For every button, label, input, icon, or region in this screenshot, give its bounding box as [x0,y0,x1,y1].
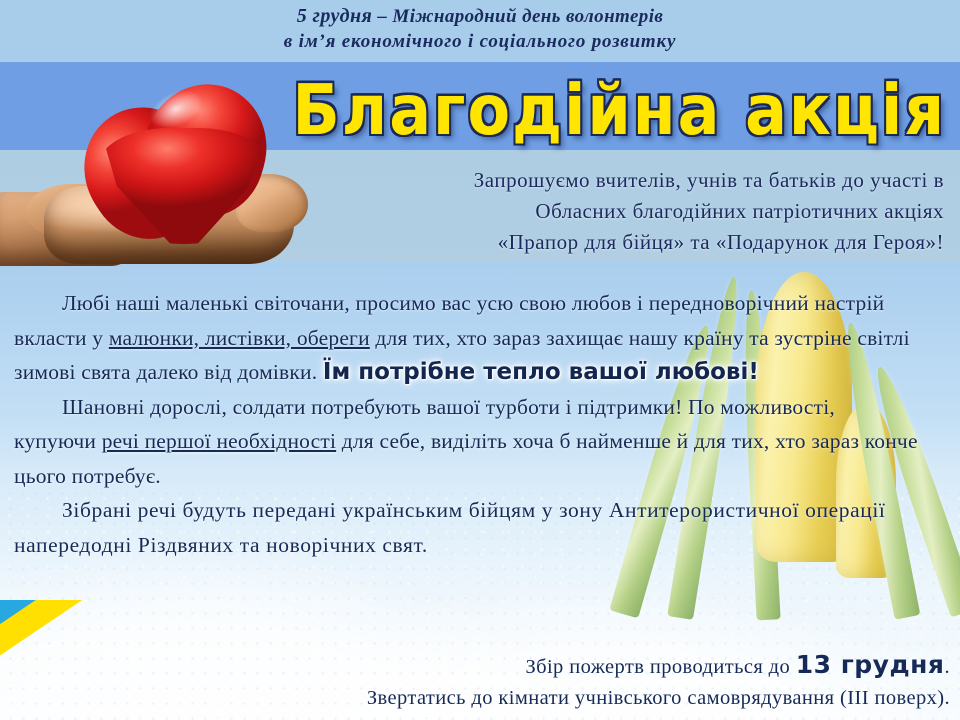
footer-info: Збір пожертв проводиться до 13 грудня. З… [170,649,950,714]
contact-location-line: Звертатись до кімнати учнівського самовр… [170,683,950,714]
page-title: Благодійна акція [0,70,960,151]
invitation-line-3: «Прапор для бійця» та «Подарунок для Гер… [304,227,944,258]
ribbon-yellow-stripe [0,600,140,698]
paragraph-adults: Шановні дорослі, солдати потребують вашо… [14,390,919,494]
event-header-dash: – [372,6,392,27]
paragraph-children: Любі наші маленькі світочани, просимо ва… [14,286,919,390]
event-date: 5 грудня [297,5,372,27]
deadline-date: 13 грудня [796,650,945,679]
charity-campaign-poster: 5 грудня – Міжнародний день волонтерів в… [0,0,960,720]
ukrainian-flag-ribbon-icon [0,600,140,720]
deadline-prefix: Збір пожертв проводиться до [525,656,795,678]
body-text: Любі наші маленькі світочани, просимо ва… [14,286,919,562]
slogan: Їм потрібне тепло вашої любові! [323,359,759,385]
event-header-line-2: в ім’я економічного і соціального розвит… [0,29,960,54]
invitation-line-1: Запрошуємо вчителів, учнів та батьків до… [304,165,944,196]
p2-underlined-items: речі першої необхідності [102,429,336,453]
paragraph-delivery: Зібрані речі будуть передані українським… [14,493,944,562]
event-header-line-1: 5 грудня – Міжнародний день волонтерів [0,4,960,29]
donation-deadline-line: Збір пожертв проводиться до 13 грудня. [170,649,950,683]
event-header: 5 грудня – Міжнародний день волонтерів в… [0,4,960,54]
p3-text: Зібрані речі будуть передані українським… [14,498,885,557]
invitation-line-2: Обласних благодійних патріотичних акціях [304,196,944,227]
invitation-block: Запрошуємо вчителів, учнів та батьків до… [304,165,944,258]
event-header-text: Міжнародний день волонтерів [392,6,663,27]
p1-underlined-items: малюнки, листівки, обереги [109,326,370,350]
deadline-suffix: . [944,656,950,678]
